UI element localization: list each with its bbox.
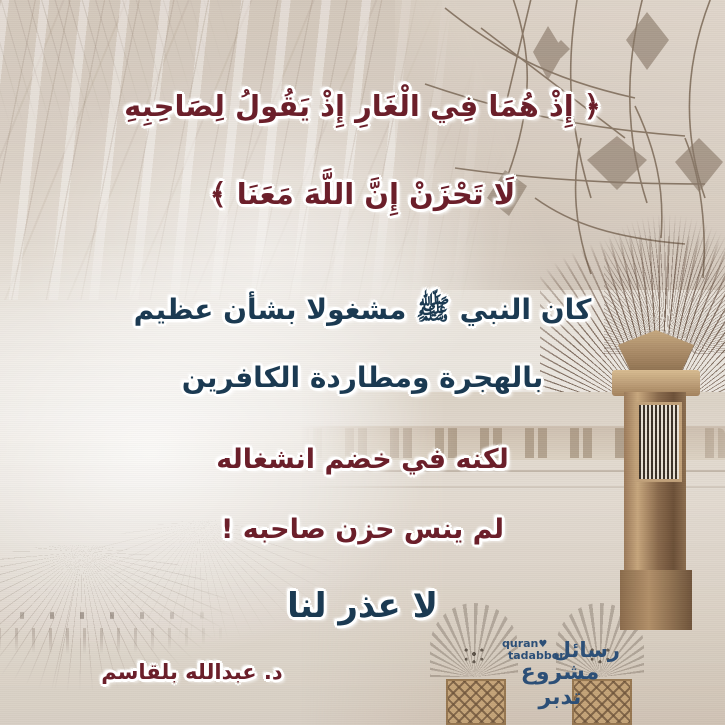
islamic-quote-poster: ﴿ إِذْ هُمَا فِي الْغَارِ إِذْ يَقُولُ ل… bbox=[0, 0, 725, 725]
body-text-line-4: لم ينس حزن صاحبه ! bbox=[0, 513, 725, 547]
quran-verse-line-1: ﴿ إِذْ هُمَا فِي الْغَارِ إِذْ يَقُولُ ل… bbox=[0, 88, 725, 124]
poster-text-content: ﴿ إِذْ هُمَا فِي الْغَارِ إِذْ يَقُولُ ل… bbox=[0, 0, 725, 725]
quran-tadabbor-logo: quran♥ tadabbor رسائل مشروع تدبر bbox=[500, 636, 620, 698]
logo-arabic-line-2: مشروع تدبر bbox=[500, 660, 620, 710]
body-text-line-2: بالهجرة ومطاردة الكافرين bbox=[0, 360, 725, 395]
body-text-line-3: لكنه في خضم انشغاله bbox=[0, 443, 725, 477]
logo-arabic-line-1: رسائل bbox=[553, 638, 620, 662]
quran-verse-line-2: لَا تَحْزَنْ إِنَّ اللَّهَ مَعَنَا ﴾ bbox=[0, 176, 725, 212]
author-credit: د. عبدالله بلقاسم bbox=[72, 660, 312, 684]
conclusion-text: لا عذر لنا bbox=[0, 585, 725, 628]
body-text-line-1: كان النبي ﷺ مشغولا بشأن عظيم bbox=[0, 292, 725, 327]
